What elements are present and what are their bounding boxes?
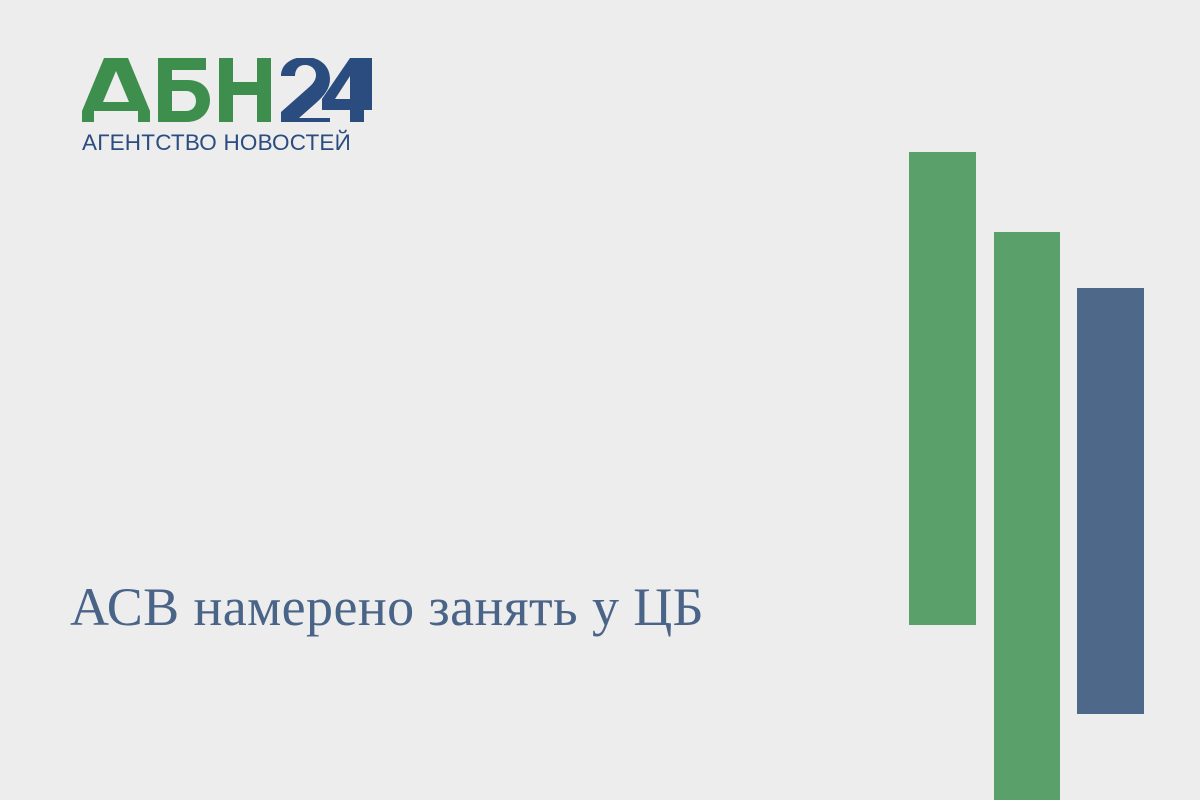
logo-tagline: АГЕНТСТВО НОВОСТЕЙ bbox=[82, 128, 372, 156]
logo-letter-en-icon bbox=[219, 58, 271, 122]
decorative-bar-3 bbox=[1077, 288, 1144, 714]
site-logo[interactable]: АГЕНТСТВО НОВОСТЕЙ bbox=[82, 58, 372, 158]
news-card-canvas: АГЕНТСТВО НОВОСТЕЙ АСВ намерено занять у… bbox=[0, 0, 1200, 800]
logo-digit-4-icon bbox=[322, 58, 372, 122]
decorative-bar-1 bbox=[909, 152, 976, 625]
logo-digit-2-icon bbox=[281, 58, 330, 122]
logo-letter-d-icon bbox=[82, 58, 150, 122]
decorative-bar-2 bbox=[994, 232, 1060, 800]
logo-tagline-text: АГЕНТСТВО НОВОСТЕЙ bbox=[82, 130, 351, 155]
article-headline: АСВ намерено занять у ЦБ 110 млрд рублей bbox=[70, 362, 860, 800]
headline-line-1: АСВ намерено занять у ЦБ bbox=[70, 558, 860, 656]
logo-wordmark-abn24 bbox=[82, 58, 372, 122]
logo-letter-be-icon bbox=[158, 58, 210, 122]
